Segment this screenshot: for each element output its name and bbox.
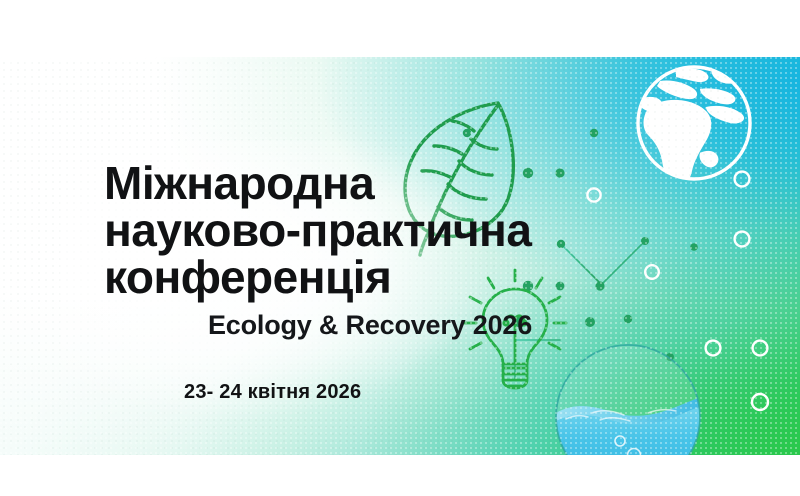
banner-subtitle: Ecology & Recovery 2026 [208, 310, 532, 340]
water-drop-circle-icon [556, 345, 700, 455]
banner-date: 23- 24 квітня 2026 [184, 380, 361, 404]
globe-icon [638, 67, 750, 193]
page-title: Міжнародна науково-практична конференція [104, 160, 624, 301]
conference-banner: Міжнародна науково-практична конференція… [0, 0, 800, 496]
